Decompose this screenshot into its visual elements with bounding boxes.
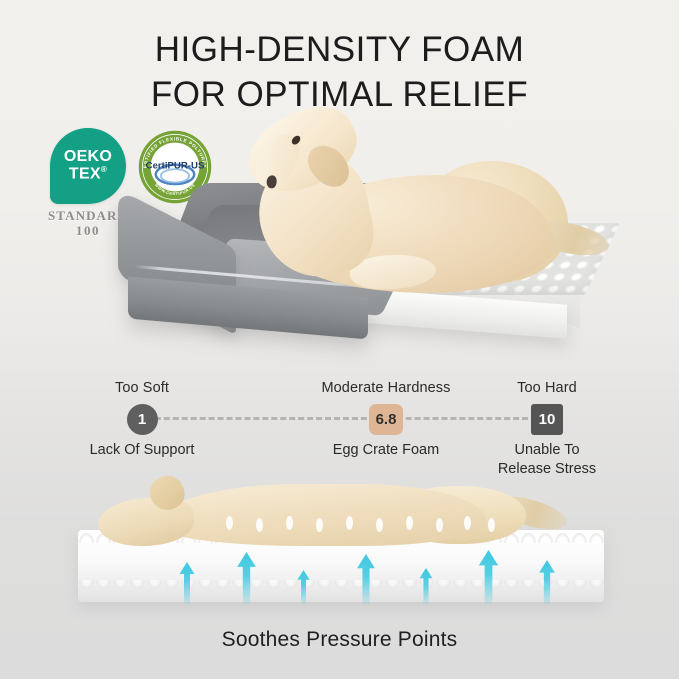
pressure-arrow-icon: [478, 550, 499, 604]
pressure-relief-illustration: [0, 468, 679, 628]
pressure-point-dot: [316, 518, 323, 532]
pressure-arrow-icon: [236, 552, 257, 604]
pressure-arrow-icon: [356, 554, 376, 604]
scale-stop-1-bottom-label: Lack Of Support: [57, 441, 227, 460]
scale-stop-1-top-label: Too Soft: [57, 380, 227, 396]
pressure-point-dot: [376, 518, 383, 532]
scale-stop-too-hard: Too Hard 10 Unable To Release Stress: [462, 380, 632, 478]
scale-stop-3-bottom-line-1: Unable To: [514, 442, 579, 458]
scale-stop-3-top-label: Too Hard: [462, 380, 632, 396]
scale-stop-too-soft: Too Soft 1 Lack Of Support: [57, 380, 227, 460]
dog-sitting-on-bed: [232, 103, 604, 315]
scale-stop-2-marker-row: 6.8: [301, 402, 471, 436]
scale-stop-2-bottom-label: Egg Crate Foam: [301, 441, 471, 460]
pressure-point-dot: [406, 516, 413, 530]
scale-marker-10: 10: [531, 404, 563, 435]
product-photo: [0, 95, 679, 360]
pressure-point-dot: [464, 516, 471, 530]
product-infographic: HIGH-DENSITY FOAM FOR OPTIMAL RELIEF OEK…: [0, 0, 679, 679]
pressure-arrow-icon: [178, 562, 196, 604]
scale-stop-moderate: Moderate Hardness 6.8 Egg Crate Foam: [301, 380, 471, 460]
upward-pressure-arrows: [78, 544, 604, 604]
pressure-point-dot: [488, 518, 495, 532]
dog-lying-on-foam: [96, 474, 566, 552]
pressure-arrow-icon: [418, 568, 434, 604]
dog-nose: [266, 175, 277, 189]
scale-stop-3-marker-row: 10: [462, 402, 632, 436]
pressure-point-dot: [286, 516, 293, 530]
pressure-point-dot: [346, 516, 353, 530]
hardness-scale: Too Soft 1 Lack Of Support Moderate Hard…: [0, 380, 679, 480]
pressure-point-dot: [436, 518, 443, 532]
scale-stop-1-marker-row: 1: [57, 402, 227, 436]
scale-marker-68: 6.8: [369, 404, 403, 435]
pressure-point-markers: [96, 474, 566, 552]
headline-line-1: HIGH-DENSITY FOAM: [155, 30, 525, 69]
scale-stop-2-top-label: Moderate Hardness: [301, 380, 471, 396]
bottom-caption: Soothes Pressure Points: [0, 628, 679, 652]
pressure-point-dot: [226, 516, 233, 530]
pressure-arrow-icon: [538, 560, 556, 604]
pressure-arrow-icon: [296, 570, 311, 604]
scale-marker-1: 1: [127, 404, 158, 435]
pressure-point-dot: [256, 518, 263, 532]
